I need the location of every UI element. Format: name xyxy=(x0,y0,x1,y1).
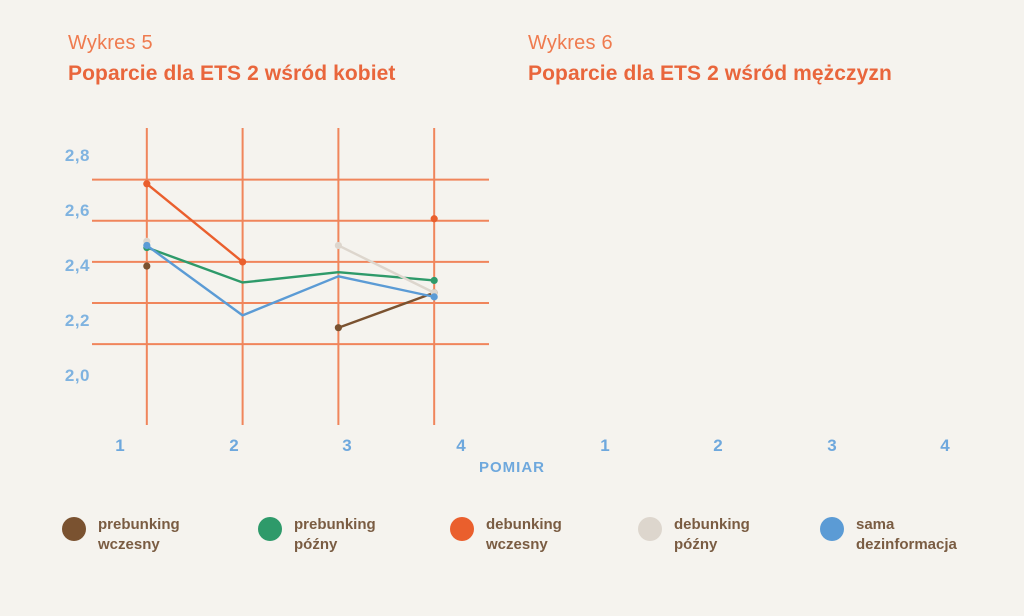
legend-item-prebunking-pozny[interactable]: prebunking późny xyxy=(258,515,376,556)
chart-title-6: Poparcie dla ETS 2 wśród mężczyzn xyxy=(528,62,892,86)
legend-swatch-icon-debunking-wczesny xyxy=(450,517,474,541)
y-tick-2-8: 2,8 xyxy=(44,146,90,166)
series-prebunking-wczesny xyxy=(143,262,438,331)
legend-label-prebunking-pozny: prebunking późny xyxy=(294,515,376,556)
legend-label-prebunking-wczesny: prebunking wczesny xyxy=(98,515,180,556)
legend-item-debunking-wczesny[interactable]: debunking wczesny xyxy=(450,515,562,556)
x-tick-left-1: 1 xyxy=(105,436,135,456)
chart-legend: prebunking wczesny prebunking późny debu… xyxy=(0,505,1024,575)
legend-item-debunking-pozny[interactable]: debunking późny xyxy=(638,515,750,556)
data-point xyxy=(143,262,150,269)
data-point xyxy=(143,242,150,249)
x-tick-left-4: 4 xyxy=(446,436,476,456)
data-point xyxy=(239,258,246,265)
legend-swatch-icon-prebunking-pozny xyxy=(258,517,282,541)
chart-title-5: Poparcie dla ETS 2 wśród kobiet xyxy=(68,62,396,86)
data-point xyxy=(431,215,438,222)
x-tick-left-3: 3 xyxy=(332,436,362,456)
data-point xyxy=(143,238,150,245)
data-point xyxy=(431,289,438,296)
series-sama-dezinformacja xyxy=(143,242,438,316)
data-point xyxy=(431,289,438,296)
series-line xyxy=(147,184,243,262)
legend-item-sama-dezinformacja[interactable]: sama dezinformacja xyxy=(820,515,957,556)
series-line xyxy=(147,245,434,315)
legend-item-prebunking-wczesny[interactable]: prebunking wczesny xyxy=(62,515,180,556)
y-tick-2-2: 2,2 xyxy=(44,311,90,331)
series-line xyxy=(338,293,434,328)
data-point xyxy=(143,180,150,187)
y-tick-2-6: 2,6 xyxy=(44,201,90,221)
x-tick-right-2: 2 xyxy=(703,436,733,456)
series-debunking-wczesny xyxy=(143,180,438,265)
data-point xyxy=(431,293,438,300)
legend-label-sama-dezinformacja: sama dezinformacja xyxy=(856,515,957,556)
legend-swatch-icon-debunking-pozny xyxy=(638,517,662,541)
legend-label-debunking-wczesny: debunking wczesny xyxy=(486,515,562,556)
x-axis-label: POMIAR xyxy=(462,459,562,476)
data-point xyxy=(335,242,342,249)
legend-swatch-icon-sama-dezinformacja xyxy=(820,517,844,541)
legend-swatch-icon-prebunking-wczesny xyxy=(62,517,86,541)
x-tick-right-3: 3 xyxy=(817,436,847,456)
data-point xyxy=(431,277,438,284)
data-point xyxy=(335,324,342,331)
series-line xyxy=(338,245,434,292)
y-tick-2-4: 2,4 xyxy=(44,256,90,276)
series-line xyxy=(147,248,434,283)
x-tick-right-4: 4 xyxy=(930,436,960,456)
x-tick-right-1: 1 xyxy=(590,436,620,456)
legend-label-debunking-pozny: debunking późny xyxy=(674,515,750,556)
chart-eyebrow-5: Wykres 5 xyxy=(68,32,153,55)
series-debunking-późny xyxy=(143,238,438,297)
data-point xyxy=(143,244,150,251)
series-prebunking-późny xyxy=(143,244,438,284)
chart-eyebrow-6: Wykres 6 xyxy=(528,32,613,55)
y-tick-2-0: 2,0 xyxy=(44,366,90,386)
x-tick-left-2: 2 xyxy=(219,436,249,456)
gridlines xyxy=(92,128,489,425)
